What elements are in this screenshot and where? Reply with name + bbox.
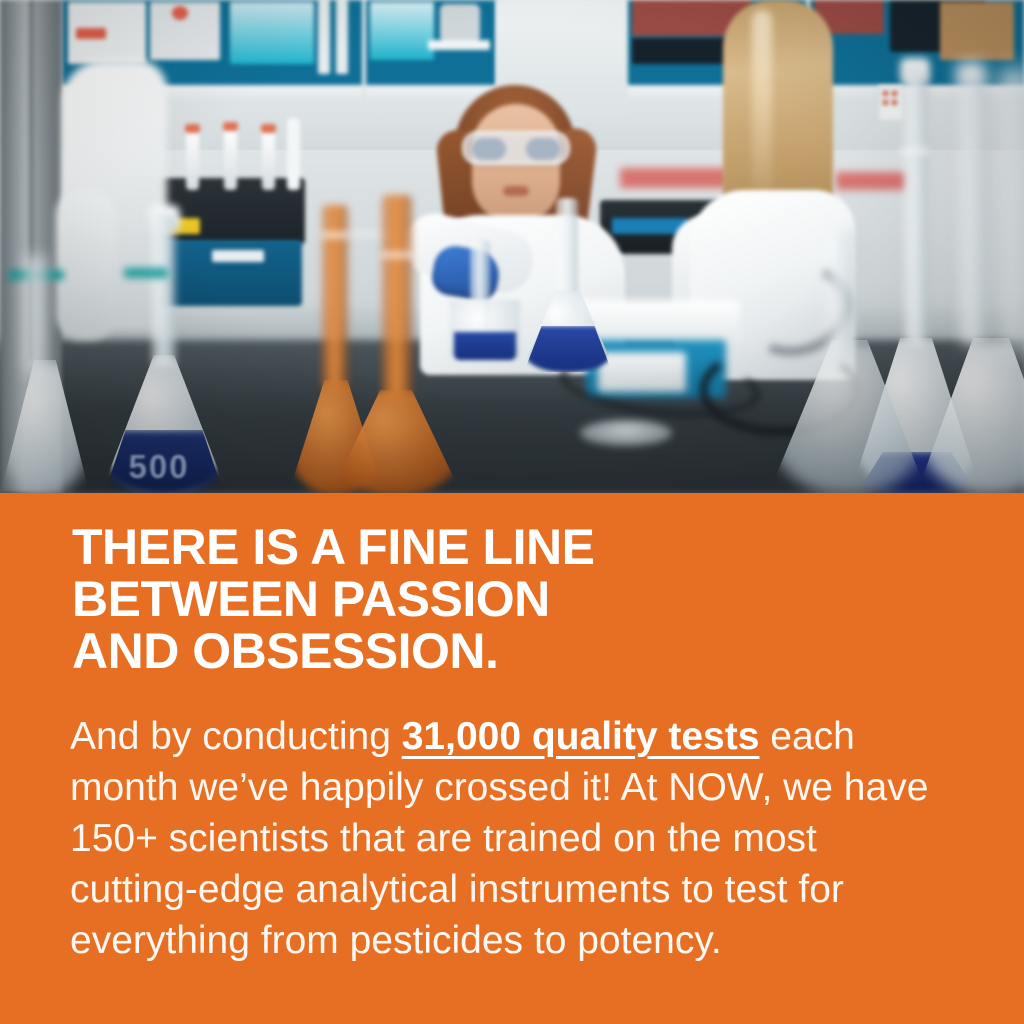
orange-text-panel: THERE IS A FINE LINE BETWEEN PASSION AND… xyxy=(0,493,1024,1024)
photo-vignette xyxy=(0,0,1024,493)
body-copy: And by conducting 31,000 quality tests e… xyxy=(70,711,950,966)
page-title: THERE IS A FINE LINE BETWEEN PASSION AND… xyxy=(72,521,972,677)
lab-photo: 500 xyxy=(0,0,1024,493)
body-text-before: And by conducting xyxy=(70,715,402,758)
poster: 500 THERE IS A FINE LINE BETWEEN PASSION… xyxy=(0,0,1024,1024)
quality-tests-highlight: 31,000 quality tests xyxy=(402,715,760,758)
